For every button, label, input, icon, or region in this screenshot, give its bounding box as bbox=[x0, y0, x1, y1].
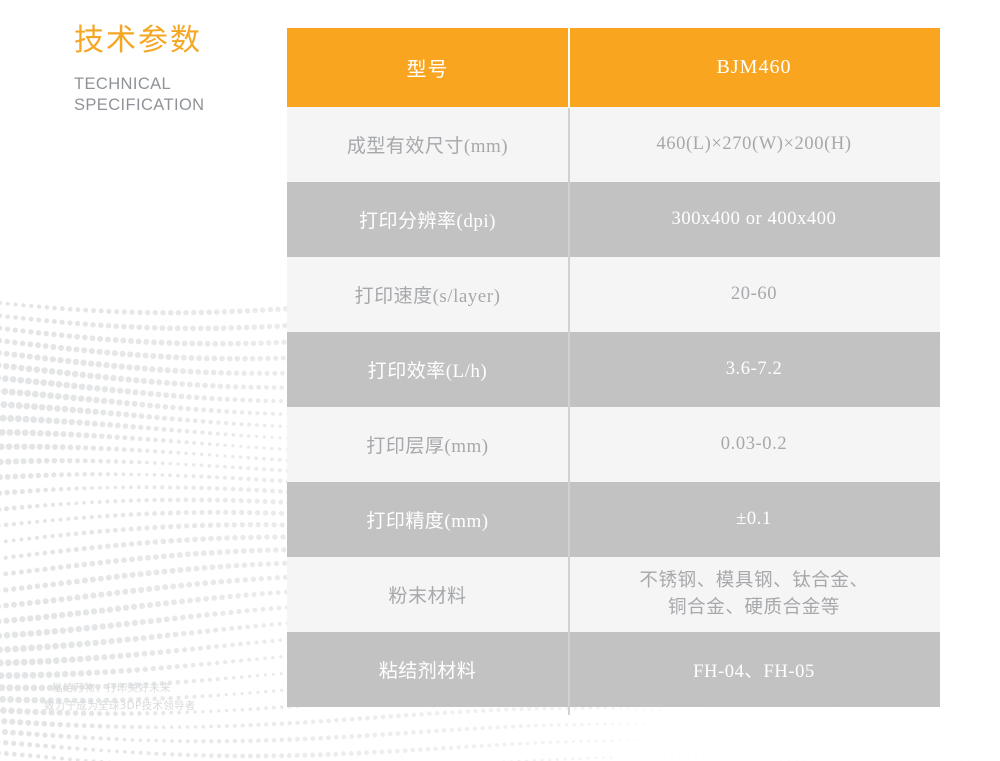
table-row-label-cell: 打印效率(L/h) bbox=[287, 332, 568, 407]
table-row-label: 粉末材料 bbox=[388, 581, 466, 608]
page-title-en-line2: SPECIFICATION bbox=[74, 95, 205, 117]
table-row: 打印分辨率(dpi)300x400 or 400x400 bbox=[287, 182, 940, 257]
table-header-label-cell: 型号 bbox=[287, 28, 568, 107]
table-row-label-cell: 打印速度(s/layer) bbox=[287, 257, 568, 332]
table-row-value: 0.03-0.2 bbox=[721, 434, 787, 455]
table-row: 粉末材料不锈钢、模具钢、钛合金、铜合金、硬质合金等 bbox=[287, 557, 940, 632]
table-row-label: 打印分辨率(dpi) bbox=[359, 206, 496, 233]
table-row-label: 打印层厚(mm) bbox=[366, 431, 488, 458]
table-row-label: 成型有效尺寸(mm) bbox=[347, 131, 508, 158]
table-row-value: ±0.1 bbox=[736, 509, 772, 530]
table-row-label: 粘结剂材料 bbox=[379, 656, 477, 683]
table-row-value: 300x400 or 400x400 bbox=[672, 209, 837, 230]
page-title-en: TECHNICAL SPECIFICATION bbox=[74, 74, 205, 118]
table-row-label: 打印精度(mm) bbox=[366, 506, 488, 533]
table-header-row: 型号 BJM460 bbox=[287, 28, 940, 107]
table-row-label-cell: 打印层厚(mm) bbox=[287, 407, 568, 482]
table-row: 粘结剂材料FH-04、FH-05 bbox=[287, 632, 940, 707]
table-row-value: 不锈钢、模具钢、钛合金、铜合金、硬质合金等 bbox=[639, 568, 868, 622]
table-row-value-cell: 3.6-7.2 bbox=[568, 332, 940, 407]
table-row-value-cell: 20-60 bbox=[568, 257, 940, 332]
table-row: 打印层厚(mm)0.03-0.2 bbox=[287, 407, 940, 482]
table-row: 打印速度(s/layer)20-60 bbox=[287, 257, 940, 332]
table-row-label-cell: 打印分辨率(dpi) bbox=[287, 182, 568, 257]
table-row-value: FH-04、FH-05 bbox=[693, 657, 815, 683]
table-row-value-cell: 460(L)×270(W)×200(H) bbox=[568, 107, 940, 182]
table-row-value-cell: 0.03-0.2 bbox=[568, 407, 940, 482]
table-row-value-line-2: 铜合金、硬质合金等 bbox=[639, 595, 868, 622]
table-row-value-cell: 不锈钢、模具钢、钛合金、铜合金、硬质合金等 bbox=[568, 557, 940, 632]
table-row-label-cell: 粉末材料 bbox=[287, 557, 568, 632]
page-title-cn: 技术参数 bbox=[74, 22, 205, 60]
company-slogan: 粘结万物，打印美好未来 致力于成为全球3DP技术领导者 bbox=[52, 679, 196, 716]
table-row-value-line-1: 不锈钢、模具钢、钛合金、 bbox=[639, 568, 868, 595]
page-title: 技术参数 TECHNICAL SPECIFICATION bbox=[74, 22, 205, 117]
table-row-value: 20-60 bbox=[731, 284, 777, 305]
table-header-label: 型号 bbox=[407, 53, 449, 82]
table-row-value-cell: ±0.1 bbox=[568, 482, 940, 557]
slogan-line-1: 粘结万物，打印美好未来 bbox=[52, 679, 196, 697]
slogan-line-2: 致力于成为全球3DP技术领导者 bbox=[44, 697, 196, 715]
table-row-label: 打印效率(L/h) bbox=[368, 356, 488, 383]
table-row-label: 打印速度(s/layer) bbox=[355, 281, 501, 308]
table-row-value-cell: 300x400 or 400x400 bbox=[568, 182, 940, 257]
table-row-value: 460(L)×270(W)×200(H) bbox=[656, 134, 851, 155]
table-row-label-cell: 粘结剂材料 bbox=[287, 632, 568, 707]
specification-table: 型号 BJM460 成型有效尺寸(mm)460(L)×270(W)×200(H)… bbox=[287, 28, 940, 707]
table-row: 打印效率(L/h)3.6-7.2 bbox=[287, 332, 940, 407]
table-row-value: 3.6-7.2 bbox=[726, 359, 783, 380]
table-row-value-cell: FH-04、FH-05 bbox=[568, 632, 940, 707]
table-header-value: BJM460 bbox=[717, 56, 792, 79]
table-row-label-cell: 打印精度(mm) bbox=[287, 482, 568, 557]
table-row: 打印精度(mm)±0.1 bbox=[287, 482, 940, 557]
page-title-en-line1: TECHNICAL bbox=[74, 74, 205, 96]
table-row-label-cell: 成型有效尺寸(mm) bbox=[287, 107, 568, 182]
table-header-value-cell: BJM460 bbox=[568, 28, 940, 107]
table-row: 成型有效尺寸(mm)460(L)×270(W)×200(H) bbox=[287, 107, 940, 182]
